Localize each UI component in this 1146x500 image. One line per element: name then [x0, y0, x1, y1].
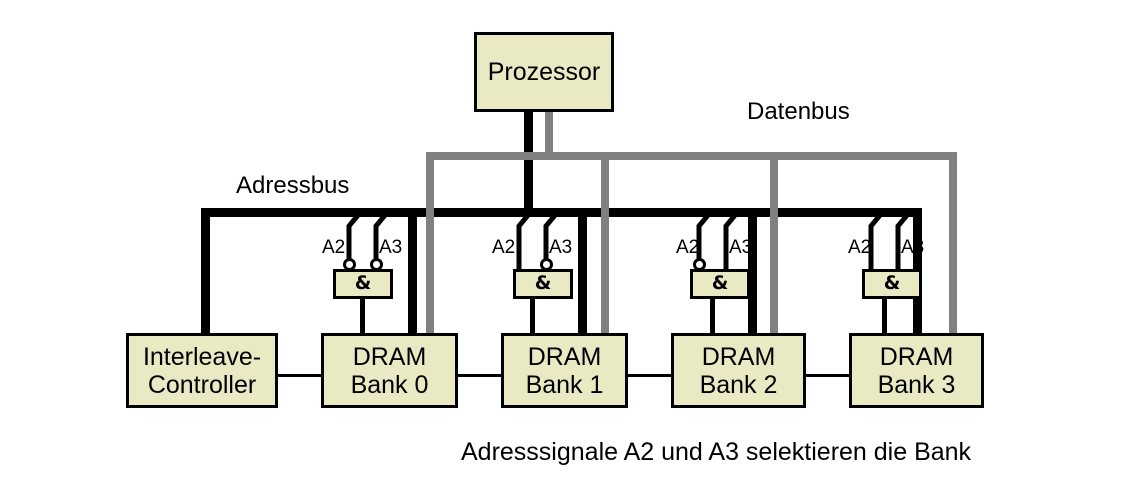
- bank2-a2-invert-bubble: [693, 258, 706, 271]
- processor-label: Prozessor: [488, 58, 601, 86]
- data-bus-trunk: [426, 152, 957, 160]
- data-bus-drop-bank1: [601, 152, 609, 333]
- bank0-decoder: &: [333, 269, 393, 299]
- bank1-a3-invert-bubble: [540, 258, 553, 271]
- bank1-a3-label: A3: [549, 237, 572, 259]
- address-bus-drop-bank1: [578, 208, 587, 333]
- bank1-select-line: [530, 299, 535, 333]
- link-controller-to-bank0: [277, 374, 322, 377]
- bank2-and-symbol: &: [712, 274, 729, 293]
- bank1-and-symbol: &: [535, 274, 552, 293]
- bank2-label-line1: DRAM: [702, 343, 776, 371]
- address-bus-trunk: [201, 208, 922, 217]
- bank2-select-line: [710, 299, 715, 333]
- data-bus-drop-bank3: [949, 152, 957, 333]
- dram-bank-3-box: DRAM Bank 3: [849, 333, 984, 408]
- dram-bank-2-box: DRAM Bank 2: [671, 333, 806, 408]
- bank0-label-line2: Bank 0: [351, 371, 429, 399]
- bank0-label-line1: DRAM: [353, 343, 427, 371]
- bank3-label-line1: DRAM: [880, 343, 954, 371]
- bank0-and-symbol: &: [355, 274, 372, 293]
- link-bank2-to-bank3: [805, 374, 850, 377]
- bank2-a3-label: A3: [729, 237, 752, 259]
- bank0-a2-label: A2: [322, 237, 345, 259]
- bank3-a3-label: A3: [901, 237, 924, 259]
- bank0-a2-invert-bubble: [343, 258, 356, 271]
- bank0-a3-invert-bubble: [370, 258, 383, 271]
- processor-box: Prozessor: [474, 32, 614, 112]
- bank1-decoder: &: [513, 269, 573, 299]
- address-bus-label: Adressbus: [236, 172, 349, 200]
- bank3-and-symbol: &: [884, 274, 901, 293]
- bank2-a2-label: A2: [676, 237, 699, 259]
- bank2-decoder: &: [690, 269, 750, 299]
- bank2-label-line2: Bank 2: [700, 371, 778, 399]
- bank0-a3-label: A3: [379, 237, 402, 259]
- bank1-label-line2: Bank 1: [526, 371, 604, 399]
- controller-label-line1: Interleave-: [143, 343, 261, 371]
- link-bank0-to-bank1: [457, 374, 502, 377]
- bank3-select-line: [882, 299, 887, 333]
- dram-bank-1-box: DRAM Bank 1: [501, 333, 628, 408]
- diagram-caption: Adresssignale A2 und A3 selektieren die …: [461, 438, 971, 467]
- controller-label-line2: Controller: [148, 371, 256, 399]
- address-bus-drop-controller: [201, 208, 210, 333]
- data-bus-drop-bank0: [426, 152, 434, 333]
- processor-address-drop: [524, 110, 533, 216]
- bank0-select-line: [360, 299, 365, 333]
- address-bus-drop-bank0: [408, 208, 417, 333]
- processor-data-drop: [545, 110, 553, 158]
- bank3-label-line2: Bank 3: [878, 371, 956, 399]
- bank3-decoder: &: [862, 269, 922, 299]
- bank1-label-line1: DRAM: [528, 343, 602, 371]
- diagram-canvas: Prozessor Datenbus Adressbus A2 A3 & A2 …: [0, 0, 1146, 500]
- bank3-a2-label: A2: [848, 237, 871, 259]
- bank1-a2-label: A2: [492, 237, 515, 259]
- interleave-controller-box: Interleave- Controller: [126, 333, 278, 408]
- data-bus-drop-bank2: [770, 152, 778, 333]
- data-bus-label: Datenbus: [747, 98, 850, 126]
- dram-bank-0-box: DRAM Bank 0: [321, 333, 458, 408]
- link-bank1-to-bank2: [627, 374, 672, 377]
